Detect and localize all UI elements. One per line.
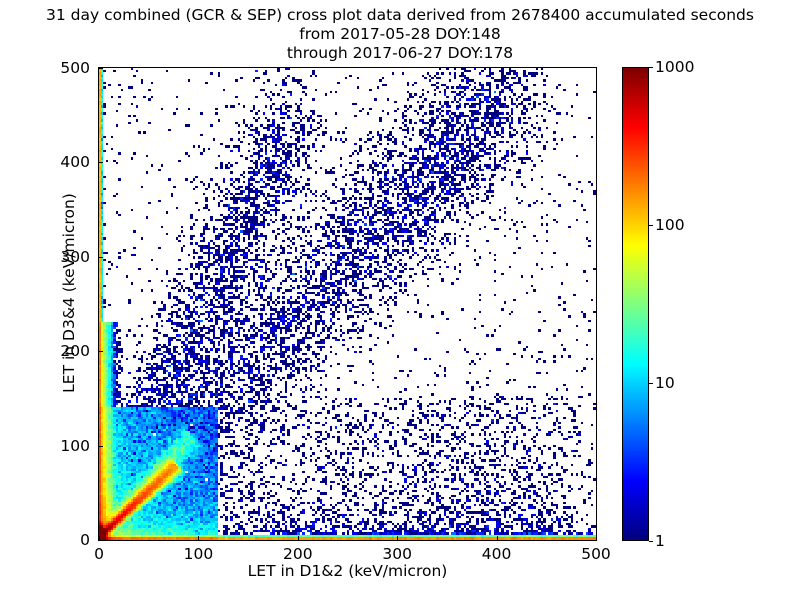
- x-tick-mark: [596, 536, 597, 540]
- x-tick-mark: [397, 536, 398, 540]
- y-tick-label: 400: [20, 153, 90, 171]
- x-tick-label: 300: [382, 545, 412, 563]
- figure-canvas: 31 day combined (GCR & SEP) cross plot d…: [0, 0, 800, 600]
- y-tick-label: 100: [20, 437, 90, 455]
- colorbar-tick-mark: [649, 383, 653, 384]
- colorbar: [622, 67, 649, 541]
- colorbar-tick-label: 10: [655, 374, 675, 392]
- y-tick-mark: [99, 68, 103, 69]
- y-tick-mark: [99, 446, 103, 447]
- colorbar-gradient: [622, 67, 649, 541]
- colorbar-tick-label: 1: [655, 532, 665, 550]
- x-tick-mark: [497, 536, 498, 540]
- y-tick-mark: [99, 162, 103, 163]
- x-tick-label: 100: [184, 545, 214, 563]
- title-line-2: from 2017-05-28 DOY:148: [0, 25, 800, 44]
- colorbar-tick-label: 1000: [655, 58, 694, 76]
- y-tick-label: 500: [20, 59, 90, 77]
- x-tick-mark: [198, 536, 199, 540]
- heatmap-scatter-canvas: [99, 68, 596, 540]
- colorbar-tick-mark: [649, 541, 653, 542]
- colorbar-tick-label: 100: [655, 216, 685, 234]
- y-tick-label: 200: [20, 342, 90, 360]
- x-tick-label: 0: [94, 545, 104, 563]
- figure-title: 31 day combined (GCR & SEP) cross plot d…: [0, 6, 800, 63]
- x-tick-mark: [298, 536, 299, 540]
- y-axis-label: LET in D3&4 (keV/micron): [60, 56, 78, 530]
- y-tick-mark: [99, 540, 103, 541]
- y-tick-mark: [99, 257, 103, 258]
- colorbar-tick-mark: [649, 67, 653, 68]
- x-axis-label: LET in D1&2 (keV/micron): [98, 562, 597, 580]
- y-tick-mark: [99, 351, 103, 352]
- x-tick-label: 200: [283, 545, 313, 563]
- y-tick-label: 0: [20, 531, 90, 549]
- x-tick-label: 500: [581, 545, 611, 563]
- colorbar-tick-mark: [649, 225, 653, 226]
- title-line-1: 31 day combined (GCR & SEP) cross plot d…: [0, 6, 800, 25]
- y-tick-label: 300: [20, 248, 90, 266]
- plot-area: [98, 67, 597, 541]
- x-tick-label: 400: [482, 545, 512, 563]
